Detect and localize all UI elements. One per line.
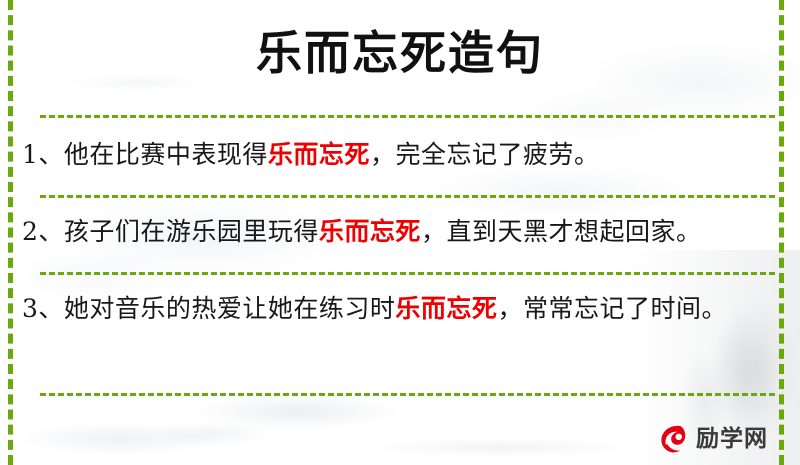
ink-wash-texture-boat (110, 378, 450, 458)
divider-below-sentence-3 (40, 393, 775, 396)
ink-wash-texture-hill (0, 400, 300, 465)
divider-between-1-and-2 (40, 195, 775, 198)
ink-wash-texture-bottom (300, 430, 700, 465)
sentence-example-page: 乐而忘死造句 1、他在比赛中表现得乐而忘死，完全忘记了疲劳。 2、孩子们在游乐园… (0, 0, 800, 465)
divider-between-2-and-3 (40, 272, 775, 275)
red-swirl-logo-icon (655, 421, 691, 457)
sentence-index: 2、 (22, 217, 64, 246)
sentence-text-after: ，直到天黑才想起回家。 (421, 217, 702, 246)
highlighted-idiom: 乐而忘死 (268, 140, 370, 169)
list-item: 1、他在比赛中表现得乐而忘死，完全忘记了疲劳。 (22, 134, 770, 176)
sentence-index: 3、 (22, 294, 64, 323)
sentence-index: 1、 (22, 140, 64, 169)
sentence-text-before: 他在比赛中表现得 (64, 140, 268, 169)
sentence-text-after: ，完全忘记了疲劳。 (370, 140, 600, 169)
list-item: 2、孩子们在游乐园里玩得乐而忘死，直到天黑才想起回家。 (22, 211, 770, 253)
sentence-text-before: 孩子们在游乐园里玩得 (64, 217, 319, 246)
site-watermark[interactable]: 励学网 (655, 421, 768, 457)
list-item: 3、她对音乐的热爱让她在练习时乐而忘死，常常忘记了时间。 (22, 288, 770, 330)
watermark-brand-label: 励学网 (696, 428, 768, 451)
highlighted-idiom: 乐而忘死 (319, 217, 421, 246)
highlighted-idiom: 乐而忘死 (395, 294, 497, 323)
sentence-text-after: ，常常忘记了时间。 (497, 294, 727, 323)
page-title: 乐而忘死造句 (0, 24, 800, 83)
divider-above-sentence-1 (40, 115, 775, 118)
sentence-text-before: 她对音乐的热爱让她在练习时 (64, 294, 396, 323)
